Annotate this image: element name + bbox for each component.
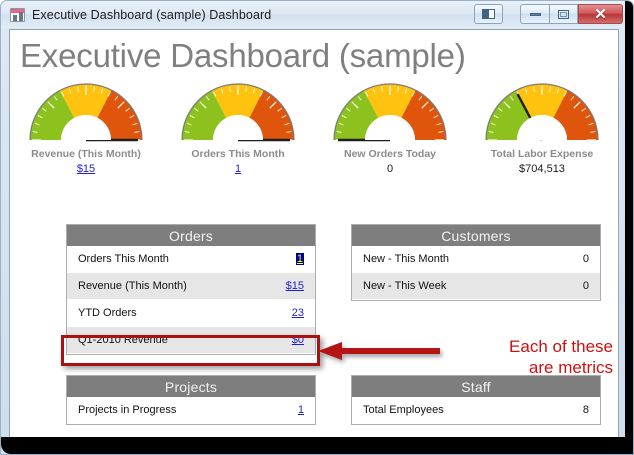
annotation-line-2: are metrics <box>428 357 613 378</box>
metric-label: YTD Orders <box>78 307 292 319</box>
minimize-button[interactable] <box>520 4 549 24</box>
annotation-text: Each of these are metrics <box>428 336 613 378</box>
panel-header-projects: Projects <box>67 376 315 397</box>
panel-staff: StaffTotal Employees8 <box>351 375 601 425</box>
minimize-icon <box>530 13 541 16</box>
gauge-1: Orders This Month1 <box>162 82 314 176</box>
gauge-label: New Orders Today <box>314 148 466 161</box>
metric-label: Revenue (This Month) <box>78 280 286 292</box>
metric-value[interactable]: $15 <box>286 280 304 292</box>
panel-customers: CustomersNew - This Month0New - This Wee… <box>351 224 601 301</box>
maximize-button[interactable] <box>549 4 578 24</box>
form-icon <box>10 8 25 22</box>
metric-label: Orders This Month <box>78 253 296 265</box>
restore-document-icon <box>482 9 495 19</box>
gauge-2: New Orders Today0 <box>314 82 466 176</box>
gauge-label: Orders This Month <box>162 148 314 161</box>
annotation-line-1: Each of these <box>428 336 613 357</box>
window-edge-shadow-right <box>625 1 633 455</box>
table-row[interactable]: YTD Orders23 <box>67 300 315 327</box>
table-row[interactable]: Projects in Progress1 <box>67 397 315 424</box>
metric-value: 8 <box>583 404 589 416</box>
metric-value[interactable]: $0 <box>292 334 304 346</box>
page-title: Executive Dashboard (sample) <box>20 37 466 75</box>
window-title: Executive Dashboard (sample) Dashboard <box>32 8 271 22</box>
metric-value: 0 <box>583 253 589 265</box>
application-window: Executive Dashboard (sample) Dashboard ✕… <box>0 0 634 455</box>
gauge-dial-icon <box>27 82 145 144</box>
metric-value[interactable]: 23 <box>292 307 304 319</box>
metric-value: 0 <box>583 280 589 292</box>
table-row[interactable]: Orders This Month1 <box>67 246 315 273</box>
annotation-arrow-icon <box>316 339 440 363</box>
restore-document-button[interactable] <box>474 4 503 24</box>
metric-label: New - This Week <box>363 280 583 292</box>
dashboard-client-area: Executive Dashboard (sample) Revenue (Th… <box>9 29 619 443</box>
close-icon: ✕ <box>594 7 607 22</box>
gauge-3: Total Labor Expense$704,513 <box>466 82 618 176</box>
metric-label: Total Employees <box>363 404 583 416</box>
gauge-value[interactable]: 1 <box>162 162 314 176</box>
gauge-dial-icon <box>179 82 297 144</box>
gauge-value: 0 <box>314 162 466 176</box>
gauge-0: Revenue (This Month)$15 <box>10 82 162 176</box>
window-edge-shadow-bottom <box>1 440 634 454</box>
gauge-dial-icon <box>483 82 601 144</box>
panel-orders: OrdersOrders This Month1Revenue (This Mo… <box>66 224 316 355</box>
panel-header-customers: Customers <box>352 225 600 246</box>
gauge-label: Revenue (This Month) <box>10 148 162 161</box>
gauge-value: $704,513 <box>466 162 618 176</box>
metric-value[interactable]: 1 <box>296 253 304 265</box>
metric-value[interactable]: 1 <box>298 404 304 416</box>
gauge-value[interactable]: $15 <box>10 162 162 176</box>
maximize-icon <box>558 10 569 19</box>
table-row[interactable]: New - This Week0 <box>352 273 600 300</box>
gauge-label: Total Labor Expense <box>466 148 618 161</box>
gauge-dial-icon <box>331 82 449 144</box>
panel-projects: ProjectsProjects in Progress1 <box>66 375 316 425</box>
panel-header-orders: Orders <box>67 225 315 246</box>
table-row[interactable]: Total Employees8 <box>352 397 600 424</box>
title-bar[interactable]: Executive Dashboard (sample) Dashboard ✕ <box>1 1 634 28</box>
table-row[interactable]: New - This Month0 <box>352 246 600 273</box>
metric-label: Projects in Progress <box>78 404 298 416</box>
table-row[interactable]: Q1-2010 Revenue$0 <box>67 327 315 354</box>
panel-header-staff: Staff <box>352 376 600 397</box>
close-button[interactable]: ✕ <box>578 4 623 24</box>
metric-label: Q1-2010 Revenue <box>78 334 292 346</box>
metric-label: New - This Month <box>363 253 583 265</box>
window-controls: ✕ <box>474 3 623 25</box>
gauges-row: Revenue (This Month)$15Orders This Month… <box>10 82 619 217</box>
table-row[interactable]: Revenue (This Month)$15 <box>67 273 315 300</box>
